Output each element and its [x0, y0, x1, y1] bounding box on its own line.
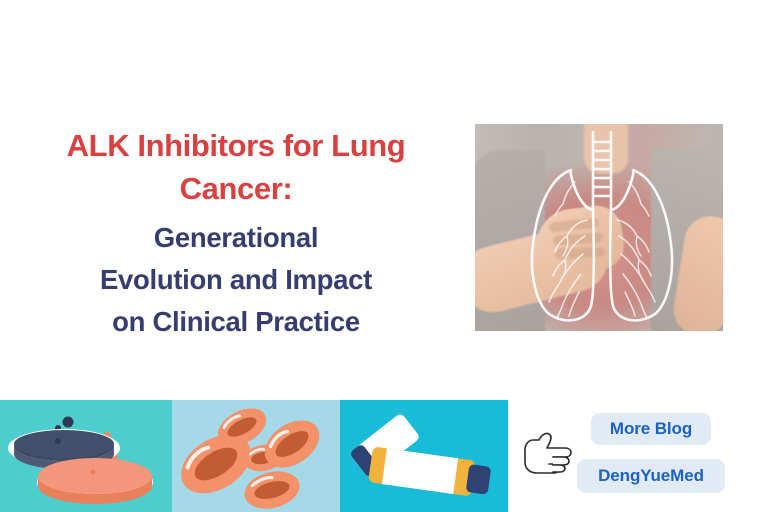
dengyuemed-button[interactable]: DengYueMed: [577, 459, 725, 493]
red-blood-cell-icon: [172, 400, 340, 512]
page-subtitle-line-3: on Clinical Practice: [20, 301, 452, 343]
page-subtitle-line-1: Generational: [20, 217, 452, 259]
page-subtitle: Generational Evolution and Impact on Cli…: [20, 217, 452, 343]
petri-dish-icon: [0, 400, 172, 512]
hero-photo-lungs: [475, 124, 723, 331]
strip-panel-petri-dishes: [0, 400, 172, 512]
pointing-right-hand-icon: [519, 428, 577, 478]
strip-panel-red-blood-cells: [172, 400, 340, 512]
more-blog-button[interactable]: More Blog: [591, 413, 711, 445]
strip-panel-inhaler: [340, 400, 508, 512]
page-title-block: ALK Inhibitors for Lung Cancer: Generati…: [20, 124, 452, 343]
lungs-outline-icon: [475, 124, 723, 331]
page-title: ALK Inhibitors for Lung Cancer:: [20, 124, 452, 210]
asthma-inhaler-icon: [340, 400, 508, 512]
page-subtitle-line-2: Evolution and Impact: [20, 259, 452, 301]
